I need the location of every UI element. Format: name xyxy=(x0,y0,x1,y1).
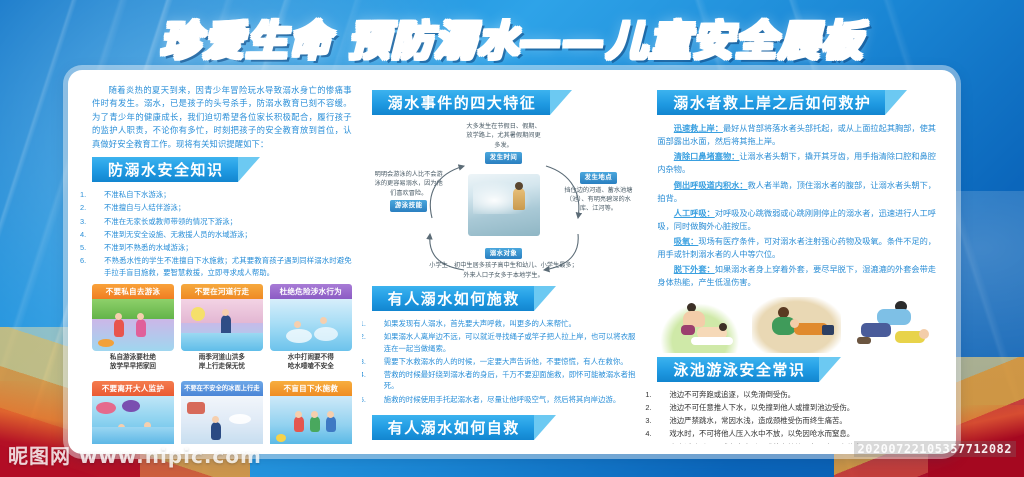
ribbon-tail-icon xyxy=(819,357,841,382)
card-illustration xyxy=(92,396,174,444)
list-item: 3.需要下水救溺水的人的时候，一定要大声告诉他，不要惊慌，有人在救你。 xyxy=(372,356,636,367)
section-header-rescue: 有人溺水如何施救 xyxy=(372,286,636,311)
card-caption: 水中打闹要不得呛水噎嗆不安全 xyxy=(270,354,352,372)
list-item: 4.戏水时，不可将他人压入水中不放，以免因呛水而窒息。 xyxy=(657,428,936,439)
page-title: 珍爱生命 预防溺水——儿童安全展板 xyxy=(160,7,864,67)
watermark-id: 20200722105357712082 xyxy=(854,441,1017,457)
card-illustration xyxy=(270,396,352,444)
ribbon-tail-icon xyxy=(550,90,572,115)
section-title-four-features: 溺水事件的四大特征 xyxy=(372,90,551,115)
cpr-illustration-chest-compression xyxy=(847,297,936,353)
safety-rules-list: 1.不准私自下水游泳； 2.不准擅自与人结伴游泳； 3.不准在无家长或教师带领的… xyxy=(92,189,352,278)
ribbon-tail-icon xyxy=(885,90,907,115)
ribbon-tail-icon xyxy=(534,415,556,440)
card-title: 不盲目下水施救 xyxy=(270,381,352,396)
section-title-selfsave: 有人溺水如何自救 xyxy=(372,415,534,440)
safety-card: 不要在河道行走 雨季河道山洪多岸上行走保无忧 xyxy=(181,284,263,372)
card-illustration xyxy=(92,299,174,351)
card-caption: 雨季河道山洪多岸上行走保无忧 xyxy=(181,354,263,372)
rescue-list: 1.如果发现有人溺水，首先要大声呼救，叫更多的人来帮忙。 2.如果溺水人离岸边不… xyxy=(372,318,636,405)
card-title: 杜绝危险涉水行为 xyxy=(270,284,352,299)
card-illustration xyxy=(181,299,263,351)
section-header-safety-knowledge: 防溺水安全知识 xyxy=(92,157,352,182)
list-item: 1.不准私自下水游泳； xyxy=(92,189,352,200)
cpr-illustration-water-expel xyxy=(657,297,746,353)
safety-card: 杜绝危险涉水行为 水中打闹要不得呛水噎嗆不安全 xyxy=(270,284,352,372)
list-item: 3.不准在无家长或教师带领的情况下游泳； xyxy=(92,216,352,227)
care-item-lead: 清除口鼻堵塞物： xyxy=(674,152,740,161)
list-item: 4.营救的时候最好绕到溺水者的身后，千万不要迎面施救，即怀可能被溺水者抱死。 xyxy=(372,369,636,392)
care-item-lead: 倒出呼吸道内积水： xyxy=(674,181,748,190)
care-item: 倒出呼吸道内积水：救人者半跪，顶住溺水者的腹部，让溺水者头朝下，拍背。 xyxy=(657,179,936,205)
cpr-illustration-prone-press xyxy=(752,297,841,353)
ribbon-tail-icon xyxy=(534,286,556,311)
right-column: 溺水者救上岸之后如何救护 迅速救上岸：最好从背部将落水者头部托起，或从上面拉起其… xyxy=(645,84,944,444)
section-title-rescue: 有人溺水如何施救 xyxy=(372,286,534,311)
watermark-site: 昵图网 www.nipic.com xyxy=(8,440,262,469)
care-item: 脱下外套：如果溺水者身上穿着外套，要尽早脱下，湿漉漉的外套会带走身体热能，产生低… xyxy=(657,263,936,289)
care-item-lead: 人工呼吸： xyxy=(674,209,715,218)
list-item: 2.不准擅自与人结伴游泳； xyxy=(92,202,352,213)
safety-card: 不盲目下水施救 伙伴遇险勿下水盲目施救酿悲剧 xyxy=(270,381,352,444)
safety-cards-row-2: 不要离开大人监护 监护不能有松懈时刻看护在身边 不要在不安全的冰面上行走 xyxy=(92,381,352,444)
safety-card: 不要离开大人监护 监护不能有松懈时刻看护在身边 xyxy=(92,381,174,444)
intro-paragraph: 随着炎热的夏天到来，因青少年冒险玩水导致溺水身亡的惨痛事件时有发生。溺水，已是孩… xyxy=(92,84,352,151)
list-item: 3.池边严禁跳水，常因水浅，造成颈椎受伤而终生痛苦。 xyxy=(657,415,936,426)
section-title-pool-safety: 泳池游泳安全常识 xyxy=(657,357,819,382)
card-title: 不要私自去游泳 xyxy=(92,284,174,299)
list-item: 4.不准到无安全设施、无救援人员的水域游泳； xyxy=(92,229,352,240)
section-title-safety-knowledge: 防溺水安全知识 xyxy=(92,157,238,182)
cpr-illustrations xyxy=(657,297,936,353)
card-caption: 私自游泳要杜绝放学早早把家回 xyxy=(92,354,174,372)
left-column: 随着炎热的夏天到来，因青少年冒险玩水导致溺水身亡的惨痛事件时有发生。溺水，已是孩… xyxy=(80,84,362,444)
card-title: 不要在河道行走 xyxy=(181,284,263,299)
section-header-four-features: 溺水事件的四大特征 xyxy=(372,90,636,115)
safety-card: 不要在不安全的冰面上行走 初冬早春冰不坚掉入冰窟太危险 xyxy=(181,381,263,444)
list-item: 1.如果发现有人溺水，首先要大声呼救，叫更多的人来帮忙。 xyxy=(372,318,636,329)
section-header-care: 溺水者救上岸之后如何救护 xyxy=(657,90,936,115)
content-panel: 随着炎热的夏天到来，因青少年冒险玩水导致溺水身亡的惨痛事件时有发生。溺水，已是孩… xyxy=(68,70,956,454)
card-title: 不要离开大人监护 xyxy=(92,381,174,396)
safety-card: 不要私自去游泳 私自游泳要杜绝放学早早把家回 xyxy=(92,284,174,372)
care-item-lead: 吸氧： xyxy=(674,237,699,246)
pool-safety-list: 1.池边不可奔跑或追逐，以免滑倒受伤。 2.池边不可任意推人下水，以免撞到他人或… xyxy=(657,389,936,445)
four-features-diagram: 大多发生在节假日、假期、放学路上，尤其暑假期间更多发。 发生时间 发生地点 挡住… xyxy=(372,122,636,280)
care-item: 人工呼吸：对呼吸及心跳微弱或心跳刚刚停止的溺水者，迅速进行人工呼吸，同时做胸外心… xyxy=(657,207,936,233)
section-title-care: 溺水者救上岸之后如何救护 xyxy=(657,90,885,115)
section-header-selfsave: 有人溺水如何自救 xyxy=(372,415,636,440)
card-title: 不要在不安全的冰面上行走 xyxy=(181,381,263,396)
card-illustration xyxy=(181,396,263,444)
poster-root: 珍爱生命 预防溺水——儿童安全展板 随着炎热的夏天到来，因青少年冒险玩水导致溺水… xyxy=(0,0,1024,477)
care-item: 吸氧：现场有医疗条件，可对溺水者注射强心药物及吸氧。条件不足的，用手或针刺溺水者… xyxy=(657,235,936,261)
care-paragraphs: 迅速救上岸：最好从背部将落水者头部托起，或从上面拉起其胸部，使其面部露出水面，然… xyxy=(657,122,936,290)
diagram-arrows-icon xyxy=(372,122,637,280)
care-item: 清除口鼻堵塞物：让溺水者头朝下，撬开其牙齿，用手指清除口腔和鼻腔内杂物。 xyxy=(657,150,936,176)
section-header-pool-safety: 泳池游泳安全常识 xyxy=(657,357,936,382)
care-item: 迅速救上岸：最好从背部将落水者头部托起，或从上面拉起其胸部，使其面部露出水面，然… xyxy=(657,122,936,148)
title-bar: 珍爱生命 预防溺水——儿童安全展板 xyxy=(0,8,1024,66)
card-illustration xyxy=(270,299,352,351)
safety-cards-row-1: 不要私自去游泳 私自游泳要杜绝放学早早把家回 不 xyxy=(92,284,352,372)
list-item: 1.池边不可奔跑或追逐，以免滑倒受伤。 xyxy=(657,389,936,400)
middle-column: 溺水事件的四大特征 大多发生在节假日、假期、放学路上，尤其暑假期间更多发。 发生… xyxy=(362,84,646,444)
care-item-lead: 脱下外套： xyxy=(674,265,715,274)
care-item-lead: 迅速救上岸： xyxy=(674,124,723,133)
list-item: 2.池边不可任意推人下水，以免撞到他人或撞到池边受伤。 xyxy=(657,402,936,413)
list-item: 2.如果溺水人离岸边不远，可以就近寻找绳子或竿子把人拉上岸，也可以将衣服连在一起… xyxy=(372,331,636,354)
list-item: 5.不准到不熟悉的水域游泳； xyxy=(92,242,352,253)
list-item: 6.不熟悉水性的学生不准擅自下水施救；尤其要教育孩子遇到同样溺水时避免手拉手盲目… xyxy=(92,255,352,278)
ribbon-tail-icon xyxy=(238,157,260,182)
list-item: 5.施救的时候使用手托起溺水者，尽量让他呼吸空气，然后将其向岸边游。 xyxy=(372,394,636,405)
